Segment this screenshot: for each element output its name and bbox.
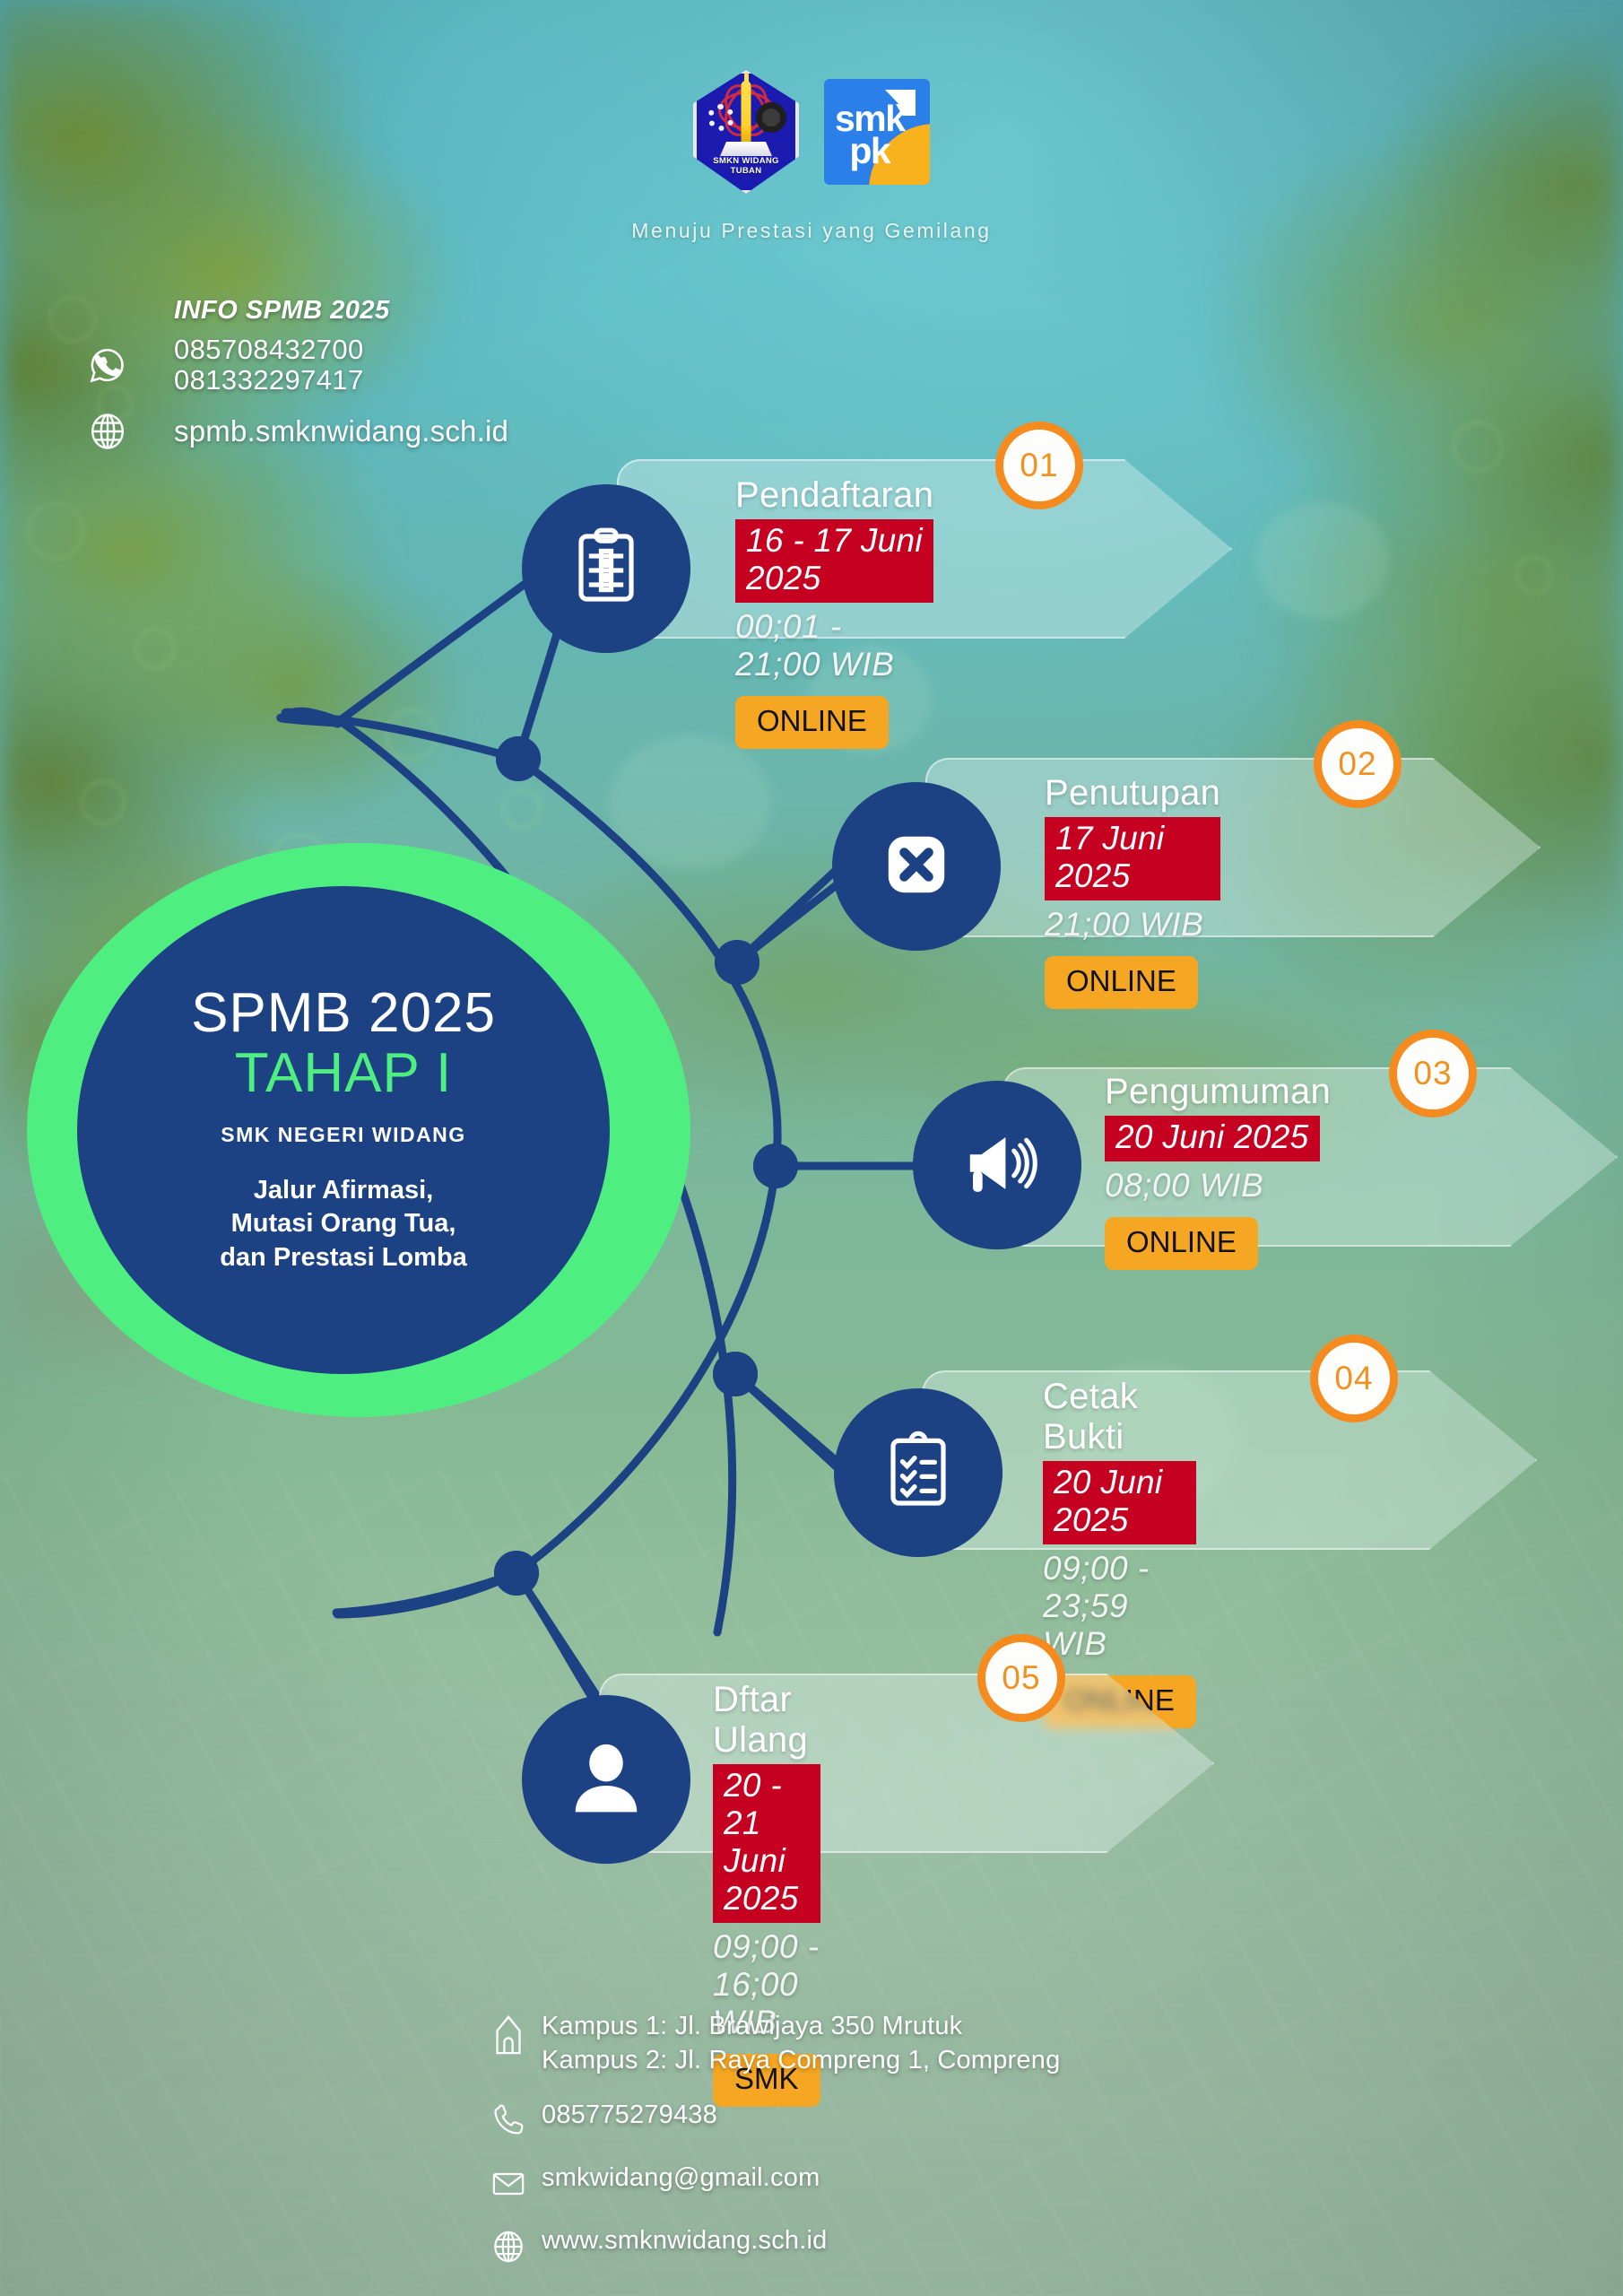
step-icon-circle-1 — [522, 484, 690, 653]
step-tag-2[interactable]: ONLINE — [1045, 956, 1198, 1009]
step-tag-1[interactable]: ONLINE — [735, 696, 889, 749]
footer-website: www.smknwidang.sch.id — [542, 2223, 828, 2257]
close-x-icon — [873, 822, 959, 912]
logo-group: SMKN WIDANG TUBAN smk pk — [0, 70, 1623, 194]
poster-header: SMKN WIDANG TUBAN smk pk Menuju Prestasi… — [0, 70, 1623, 243]
footer-email-row: smkwidang@gmail.com — [475, 2161, 1060, 2204]
step-content-3: Pengumuman 20 Juni 2025 08;00 WIB ONLINE — [1105, 1072, 1331, 1270]
globe-icon — [475, 2223, 542, 2266]
mail-icon — [475, 2161, 542, 2204]
poster-root: SMKN WIDANG TUBAN smk pk Menuju Prestasi… — [0, 0, 1623, 2296]
center-title: SPMB 2025 — [191, 985, 496, 1041]
step-title-3: Pengumuman — [1105, 1072, 1331, 1112]
step-card-2 — [925, 758, 1541, 937]
step-date-1: 16 - 17 Juni 2025 — [735, 519, 933, 603]
step-number-badge-4: 04 — [1310, 1335, 1398, 1422]
step-number-badge-1: 01 — [995, 422, 1083, 509]
step-tag-3[interactable]: ONLINE — [1105, 1217, 1258, 1270]
center-subtitle: TAHAP I — [235, 1043, 452, 1104]
footer-address-line1: Kampus 1: Jl. Brawijaya 350 Mrutuk — [542, 2009, 1060, 2043]
step-icon-circle-5 — [522, 1695, 690, 1864]
step-date-4: 20 Juni 2025 — [1043, 1461, 1196, 1544]
home-icon — [475, 2009, 542, 2057]
step-number-badge-3: 03 — [1389, 1030, 1477, 1118]
info-title: INFO SPMB 2025 — [174, 296, 508, 326]
center-desc-line3: dan Prestasi Lomba — [220, 1241, 467, 1275]
step-content-2: Penutupan 17 Juni 2025 21;00 WIB ONLINE — [1045, 773, 1220, 1009]
step-time-1: 00;01 - 21;00 WIB — [735, 608, 933, 683]
step-title-4: Cetak Bukti — [1043, 1377, 1196, 1457]
footer-address-row: Kampus 1: Jl. Brawijaya 350 Mrutuk Kampu… — [475, 2009, 1060, 2078]
smkn-widang-tuban-logo: SMKN WIDANG TUBAN — [693, 70, 799, 194]
tagline: Menuju Prestasi yang Gemilang — [0, 219, 1623, 243]
footer-contact: Kampus 1: Jl. Brawijaya 350 Mrutuk Kampu… — [475, 2009, 1060, 2286]
globe-icon — [86, 410, 149, 453]
step-time-2: 21;00 WIB — [1045, 906, 1220, 944]
logo-caption: SMKN WIDANG TUBAN — [693, 156, 799, 176]
phone-icon — [475, 2098, 542, 2141]
footer-address: Kampus 1: Jl. Brawijaya 350 Mrutuk Kampu… — [542, 2009, 1060, 2078]
step-icon-circle-3 — [913, 1081, 1081, 1249]
footer-address-line2: Kampus 2: Jl. Raya Compreng 1, Compreng — [542, 2043, 1060, 2077]
info-phone-row: 085708432700 081332297417 — [86, 335, 508, 396]
step-time-4: 09;00 - 23;59 WIB — [1043, 1550, 1196, 1663]
info-block: INFO SPMB 2025 085708432700 081332297417 — [86, 296, 508, 453]
step-date-3: 20 Juni 2025 — [1105, 1116, 1320, 1161]
smk-pk-logo: smk pk — [824, 79, 930, 185]
clipboard-list-icon — [563, 524, 649, 614]
info-phone-1: 085708432700 — [174, 335, 364, 365]
smkpk-text-bottom: pk — [835, 135, 905, 167]
logo-caption-line1: SMKN WIDANG — [693, 156, 799, 166]
clipboard-check-icon — [875, 1428, 961, 1518]
step-card-5 — [599, 1674, 1214, 1853]
step-number-badge-5: 05 — [977, 1634, 1065, 1722]
footer-web-row: www.smknwidang.sch.id — [475, 2223, 1060, 2266]
user-icon — [562, 1734, 650, 1826]
footer-phone: 085775279438 — [542, 2098, 717, 2132]
center-description: Jalur Afirmasi, Mutasi Orang Tua, dan Pr… — [220, 1174, 467, 1275]
step-title-1: Pendaftaran — [735, 475, 933, 516]
step-card-4 — [922, 1370, 1537, 1550]
step-icon-circle-4 — [834, 1388, 1002, 1557]
smkpk-wordmark: smk pk — [835, 102, 905, 167]
center-desc-line1: Jalur Afirmasi, — [220, 1174, 467, 1208]
step-icon-circle-2 — [832, 782, 1001, 951]
center-core: SPMB 2025 TAHAP I SMK NEGERI WIDANG Jalu… — [77, 886, 610, 1374]
step-time-3: 08;00 WIB — [1105, 1167, 1331, 1205]
info-website: spmb.smknwidang.sch.id — [174, 414, 508, 448]
info-web-row: spmb.smknwidang.sch.id — [86, 410, 508, 453]
info-phones: 085708432700 081332297417 — [174, 335, 364, 396]
center-desc-line2: Mutasi Orang Tua, — [220, 1207, 467, 1241]
step-date-5: 20 - 21 Juni 2025 — [713, 1764, 820, 1923]
monument-icon — [742, 81, 751, 145]
monument-base — [720, 142, 772, 156]
step-date-2: 17 Juni 2025 — [1045, 817, 1220, 900]
center-badge: SPMB 2025 TAHAP I SMK NEGERI WIDANG Jalu… — [27, 843, 690, 1417]
center-school-name: SMK NEGERI WIDANG — [221, 1123, 465, 1147]
step-content-1: Pendaftaran 16 - 17 Juni 2025 00;01 - 21… — [735, 475, 933, 749]
logo-caption-line2: TUBAN — [693, 166, 799, 176]
step-title-5: Dftar Ulang — [713, 1680, 820, 1761]
footer-email: smkwidang@gmail.com — [542, 2161, 820, 2195]
megaphone-icon — [953, 1119, 1041, 1212]
info-phone-2: 081332297417 — [174, 365, 364, 396]
step-title-2: Penutupan — [1045, 773, 1220, 813]
step-number-badge-2: 02 — [1314, 720, 1402, 808]
whatsapp-icon — [86, 344, 149, 387]
footer-phone-row: 085775279438 — [475, 2098, 1060, 2141]
wheel-icon — [756, 102, 786, 133]
gear-icon — [707, 104, 734, 131]
